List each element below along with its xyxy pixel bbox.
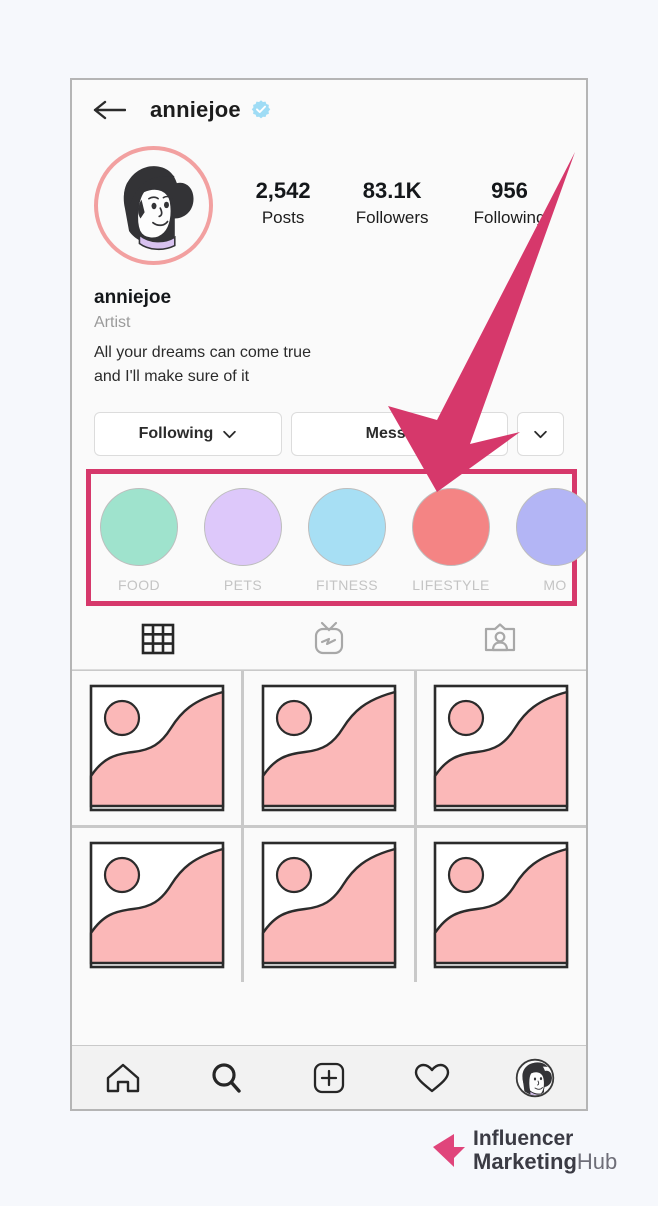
highlight-label: LIFESTYLE xyxy=(412,577,490,593)
highlight-fitness[interactable]: FITNESS xyxy=(308,488,386,593)
nav-search[interactable] xyxy=(175,1061,278,1095)
profile-action-buttons: Following Message xyxy=(72,388,586,456)
igtv-icon xyxy=(309,619,349,659)
story-highlights: FOOD PETS FITNESS LIFESTYLE MO xyxy=(91,488,572,593)
following-button[interactable]: Following xyxy=(94,412,282,456)
tagged-person-icon xyxy=(481,620,519,658)
tab-grid[interactable] xyxy=(72,620,243,658)
following-count: 956 xyxy=(474,176,546,206)
post-thumbnail[interactable] xyxy=(417,828,586,982)
search-icon xyxy=(209,1061,243,1095)
brand-name-marketing: Marketing xyxy=(473,1149,577,1174)
image-placeholder-icon xyxy=(261,841,397,969)
header-username-row: anniejoe xyxy=(150,97,272,123)
image-placeholder-icon xyxy=(89,841,225,969)
profile-bio: anniejoe Artist All your dreams can come… xyxy=(72,265,586,388)
profile-avatar-icon xyxy=(515,1058,555,1098)
highlight-food[interactable]: FOOD xyxy=(100,488,178,593)
image-placeholder-icon xyxy=(89,684,225,812)
bio-line-1: All your dreams can come true xyxy=(94,344,311,361)
highlight-cover xyxy=(412,488,490,566)
more-options-button[interactable] xyxy=(517,412,564,456)
following-label: Following xyxy=(474,206,546,230)
bio-line-2: and I'll make sure of it xyxy=(94,368,249,385)
tab-igtv[interactable] xyxy=(243,619,414,659)
bio-display-name: anniejoe xyxy=(94,287,564,309)
phone-mockup: anniejoe xyxy=(70,78,588,1111)
message-button[interactable]: Message xyxy=(291,412,508,456)
highlight-label: PETS xyxy=(204,577,282,593)
brand-logo-text: Influencer MarketingHub xyxy=(473,1128,617,1173)
profile-summary: 2,542 Posts 83.1K Followers 956 Followin… xyxy=(72,140,586,265)
home-icon xyxy=(105,1061,141,1095)
back-arrow-icon[interactable] xyxy=(92,99,126,121)
grid-icon xyxy=(139,620,177,658)
arrow-logo-mark xyxy=(432,1131,466,1171)
add-plus-icon xyxy=(312,1061,346,1095)
user-avatar-illustration xyxy=(102,154,206,258)
stat-posts[interactable]: 2,542 Posts xyxy=(256,176,311,229)
avatar[interactable] xyxy=(94,146,213,265)
image-placeholder-icon xyxy=(433,841,569,969)
image-placeholder-icon xyxy=(261,684,397,812)
followers-count: 83.1K xyxy=(356,176,429,206)
chevron-down-icon xyxy=(222,430,237,439)
post-thumbnail[interactable] xyxy=(72,828,241,982)
nav-add[interactable] xyxy=(278,1061,381,1095)
followers-label: Followers xyxy=(356,206,429,230)
highlight-label: FITNESS xyxy=(308,577,386,593)
nav-home[interactable] xyxy=(72,1061,175,1095)
bio-description: All your dreams can come true and I'll m… xyxy=(94,341,364,388)
highlights-annotation-box: FOOD PETS FITNESS LIFESTYLE MO xyxy=(86,469,577,606)
post-thumbnail[interactable] xyxy=(244,828,413,982)
profile-tabs xyxy=(72,608,586,670)
bottom-navigation xyxy=(72,1045,586,1109)
chevron-down-icon xyxy=(533,430,548,439)
posts-count: 2,542 xyxy=(256,176,311,206)
stat-following[interactable]: 956 Following xyxy=(474,176,546,229)
highlight-more[interactable]: MO xyxy=(516,488,588,593)
image-placeholder-icon xyxy=(433,684,569,812)
verified-badge-icon xyxy=(250,99,272,121)
highlight-cover xyxy=(204,488,282,566)
bio-category: Artist xyxy=(94,314,564,332)
post-grid xyxy=(72,670,586,982)
profile-stats: 2,542 Posts 83.1K Followers 956 Followin… xyxy=(233,146,568,229)
brand-name-hub: Hub xyxy=(577,1149,617,1174)
nav-activity[interactable] xyxy=(380,1062,483,1094)
posts-label: Posts xyxy=(256,206,311,230)
nav-profile[interactable] xyxy=(483,1058,586,1098)
highlight-lifestyle[interactable]: LIFESTYLE xyxy=(412,488,490,593)
page-title: anniejoe xyxy=(150,97,241,123)
highlight-cover xyxy=(100,488,178,566)
brand-logo: Influencer MarketingHub xyxy=(432,1128,617,1173)
post-thumbnail[interactable] xyxy=(244,671,413,825)
highlight-label: MO xyxy=(516,577,588,593)
highlight-cover xyxy=(308,488,386,566)
highlight-cover xyxy=(516,488,588,566)
heart-icon xyxy=(414,1062,450,1094)
highlight-label: FOOD xyxy=(100,577,178,593)
highlight-pets[interactable]: PETS xyxy=(204,488,282,593)
following-button-label: Following xyxy=(139,425,214,443)
brand-name-line1: Influencer xyxy=(473,1128,617,1149)
brand-name-line2: MarketingHub xyxy=(473,1151,617,1173)
post-thumbnail[interactable] xyxy=(72,671,241,825)
tab-tagged[interactable] xyxy=(415,620,586,658)
profile-header: anniejoe xyxy=(72,80,586,140)
message-button-label: Message xyxy=(366,425,434,443)
stat-followers[interactable]: 83.1K Followers xyxy=(356,176,429,229)
post-thumbnail[interactable] xyxy=(417,671,586,825)
